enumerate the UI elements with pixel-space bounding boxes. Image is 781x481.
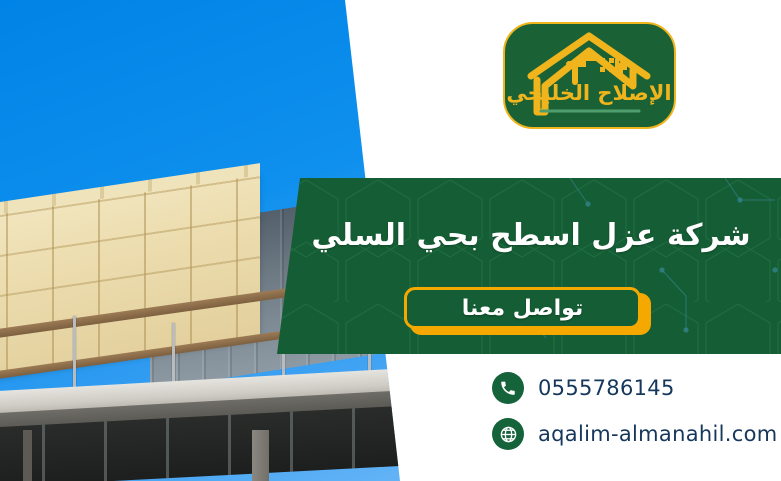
building-column [252,430,269,481]
website-url: aqalim-almanahil.com [538,422,777,446]
building-column [23,430,32,481]
globe-icon [492,418,524,450]
headline-title: شركة عزل اسطح بحي السلي [300,218,762,253]
cta-container: تواصل معنا [404,287,651,335]
promo-banner: شركة عزل اسطح بحي السلي تواصل معنا الإصل… [0,0,781,481]
contact-us-button[interactable]: تواصل معنا [404,287,641,329]
contact-row-phone[interactable]: 0555786145 [492,372,772,404]
contact-row-website[interactable]: aqalim-almanahil.com [492,418,772,450]
phone-number: 0555786145 [538,376,675,400]
house-with-tools-icon: الإصلاح الخليجي [505,24,674,127]
company-logo[interactable]: الإصلاح الخليجي [503,22,676,129]
svg-text:الإصلاح الخليجي: الإصلاح الخليجي [506,81,671,105]
contact-block: 0555786145 aqalim-almanahil.com [492,372,772,464]
phone-icon [492,372,524,404]
